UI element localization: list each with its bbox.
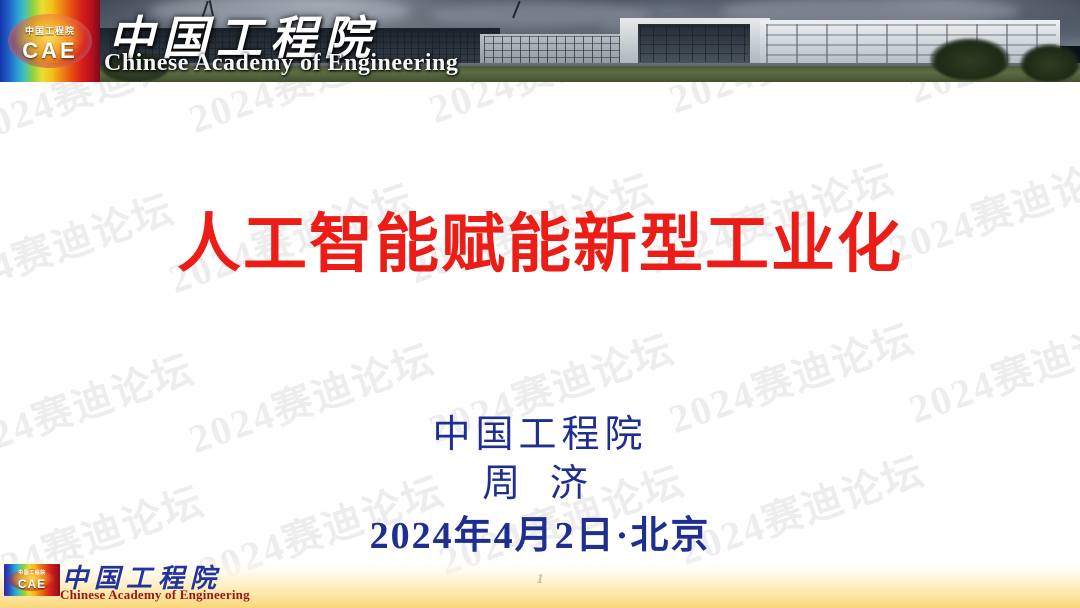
tree-shape — [1020, 44, 1080, 82]
cae-logo-icon: 中国工程院 CAE — [0, 0, 100, 82]
page-title: 人工智能赋能新型工业化 — [0, 208, 1080, 282]
building-window-grid — [766, 24, 1056, 64]
byline-block: 中国工程院 周 济 2024年4月2日·北京 — [0, 412, 1080, 562]
header-title-en: Chinese Academy of Engineering — [104, 50, 458, 77]
building-window-grid — [484, 36, 626, 66]
byline-organization: 中国工程院 — [0, 412, 1080, 460]
header-banner: 中国工程院 Chinese Academy of Engineering 中国工… — [0, 0, 1080, 82]
byline-speaker: 周 济 — [0, 460, 1080, 509]
presentation-slide: 中国工程院 Chinese Academy of Engineering 中国工… — [0, 0, 1080, 608]
footer-bar: 中国工程院 CAE 中国工程院 Chinese Academy of Engin… — [0, 556, 1080, 608]
cae-logo-abbr: CAE — [0, 38, 100, 64]
byline-date-location: 2024年4月2日·北京 — [0, 511, 1080, 562]
footer-title-en: Chinese Academy of Engineering — [60, 587, 250, 603]
cae-logo-chinese-mark: 中国工程院 — [0, 24, 100, 37]
tree-shape — [930, 38, 1010, 80]
slide-content: 人工智能赋能新型工业化 中国工程院 周 济 2024年4月2日·北京 — [0, 82, 1080, 558]
page-number: 1 — [0, 572, 1080, 588]
building-window-grid — [640, 26, 748, 62]
